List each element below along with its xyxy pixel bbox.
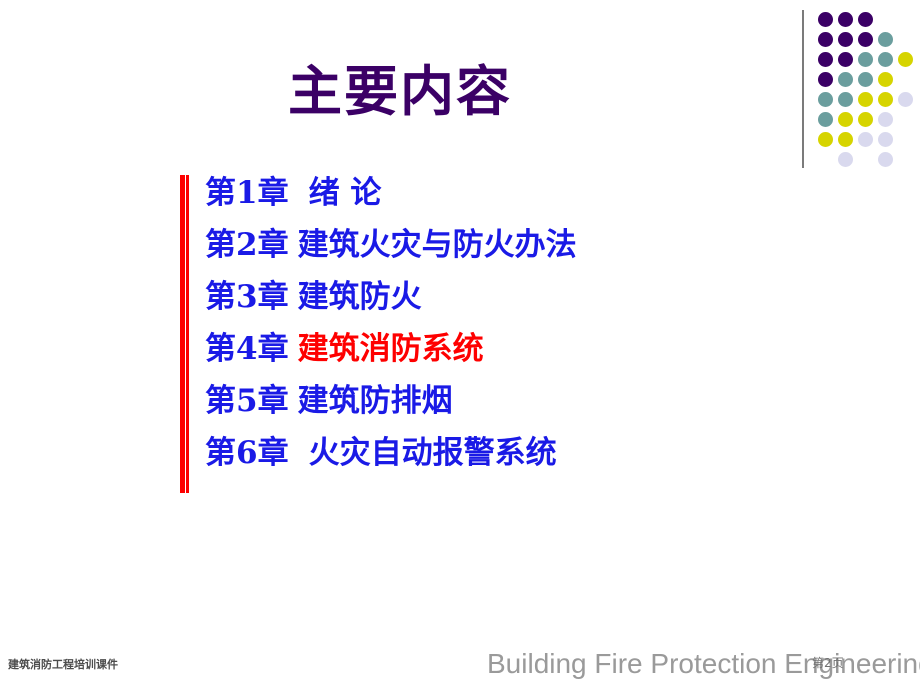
decorative-dot [818,112,833,127]
toc-chapter-title: 建筑防火 [298,279,422,315]
decorative-dot [858,132,873,147]
decorative-dot [858,12,873,27]
decorative-dot [838,92,853,107]
page-number: 第2页 [812,654,844,671]
decorative-dot [818,92,833,107]
decorative-dot [838,132,853,147]
decorative-dot [838,32,853,47]
decorative-dot [858,112,873,127]
decorative-dot [838,12,853,27]
decorative-dot [878,32,893,47]
decorative-dot [878,132,893,147]
footer-right-label: Building Fire Protection Engineering [487,648,920,680]
slide-canvas: 主要内容 第1章绪 论第2章建筑火灾与防火办法第3章建筑防火第4章建筑消防系统第… [0,0,920,690]
toc-chapter-label: 第6章 [205,435,289,471]
toc-chapter-title: 建筑消防系统 [298,331,484,367]
decorative-dot [818,32,833,47]
decorative-dot [858,72,873,87]
decorative-dot [818,12,833,27]
decorative-dot [818,132,833,147]
toc-chapter-title: 火灾自动报警系统 [309,435,557,471]
decorative-dot [818,52,833,67]
decorative-dot [878,152,893,167]
decorative-dot [898,92,913,107]
accent-bar [180,175,189,493]
decorative-dot-grid [818,12,918,172]
decorative-dot [838,72,853,87]
decorative-dot [858,52,873,67]
toc-item-chapter-6[interactable]: 第6章火灾自动报警系统 [205,427,577,479]
footer-left-label: 建筑消防工程培训课件 [8,656,118,672]
toc-chapter-label: 第4章 [205,331,289,367]
toc-item-chapter-1[interactable]: 第1章绪 论 [205,167,577,219]
decorative-dot [878,112,893,127]
decorative-dot [858,32,873,47]
decorative-dot [838,52,853,67]
toc-item-chapter-5[interactable]: 第5章建筑防排烟 [205,375,577,427]
decorative-dot [818,72,833,87]
decorative-dot [838,112,853,127]
decorative-dot [898,52,913,67]
toc-item-chapter-2[interactable]: 第2章建筑火灾与防火办法 [205,219,577,271]
toc-chapter-label: 第1章 [205,175,289,211]
decorative-dot [878,92,893,107]
toc-chapter-title: 建筑火灾与防火办法 [298,227,577,263]
decorative-vertical-rule [802,10,804,168]
toc-chapter-label: 第5章 [205,383,289,419]
decorative-dot [878,52,893,67]
page-title: 主要内容 [0,62,800,121]
toc-chapter-label: 第2章 [205,227,289,263]
decorative-dot [858,92,873,107]
toc-chapter-title: 建筑防排烟 [298,383,453,419]
toc-chapter-label: 第3章 [205,279,289,315]
toc-item-chapter-3[interactable]: 第3章建筑防火 [205,271,577,323]
decorative-dot [878,72,893,87]
table-of-contents-list: 第1章绪 论第2章建筑火灾与防火办法第3章建筑防火第4章建筑消防系统第5章建筑防… [205,167,577,479]
decorative-dot [838,152,853,167]
toc-chapter-title: 绪 论 [309,175,382,211]
toc-item-chapter-4[interactable]: 第4章建筑消防系统 [205,323,577,375]
